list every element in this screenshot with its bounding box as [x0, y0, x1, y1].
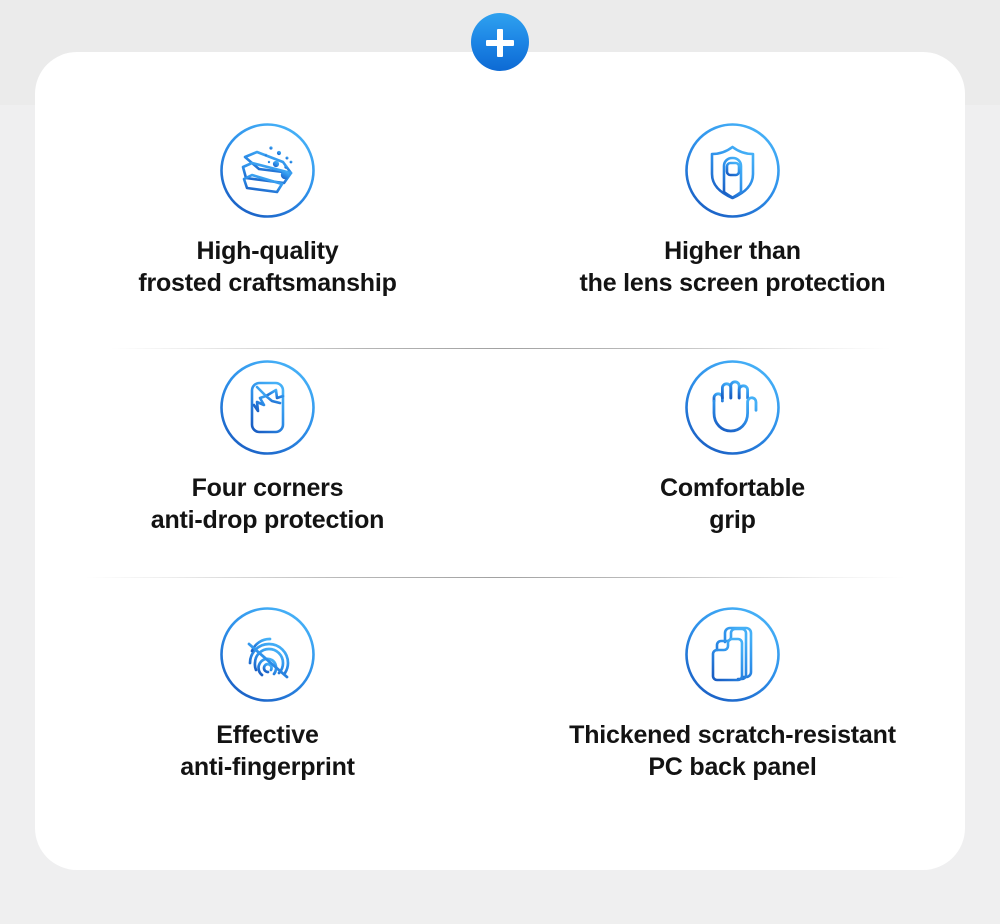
feature-label: Four corners anti-drop protection	[151, 472, 384, 536]
feature-item-grip: Comfortable grip	[500, 359, 965, 536]
feature-label: Thickened scratch-resistant PC back pane…	[569, 719, 896, 783]
open-hand-icon	[684, 359, 781, 456]
feature-item-frosted: High-quality frosted craftsmanship	[35, 122, 500, 299]
feature-label-line1: Thickened scratch-resistant	[569, 719, 896, 751]
feature-row: Effective anti-fingerprint	[35, 606, 965, 783]
feature-grid: High-quality frosted craftsmanship	[35, 52, 965, 870]
feature-item-lens-protection: Higher than the lens screen protection	[500, 122, 965, 299]
shield-lens-icon	[684, 122, 781, 219]
feature-label-line2: frosted craftsmanship	[138, 267, 396, 299]
feature-item-anti-fingerprint: Effective anti-fingerprint	[35, 606, 500, 783]
frosted-layers-icon	[219, 122, 316, 219]
row-divider-2	[85, 577, 905, 578]
infographic-stage: High-quality frosted craftsmanship	[0, 0, 1000, 924]
cracked-phone-icon	[219, 359, 316, 456]
feature-label-line1: Effective	[180, 719, 355, 751]
layered-back-panel-icon	[684, 606, 781, 703]
feature-label: High-quality frosted craftsmanship	[138, 235, 396, 299]
feature-label-line1: High-quality	[138, 235, 396, 267]
feature-item-back-panel: Thickened scratch-resistant PC back pane…	[500, 606, 965, 783]
feature-label-line2: grip	[660, 504, 805, 536]
feature-label-line1: Higher than	[580, 235, 886, 267]
feature-label-line2: anti-fingerprint	[180, 751, 355, 783]
row-divider-1	[110, 348, 890, 349]
feature-label-line1: Four corners	[151, 472, 384, 504]
feature-label: Comfortable grip	[660, 472, 805, 536]
feature-item-anti-drop: Four corners anti-drop protection	[35, 359, 500, 536]
feature-label: Effective anti-fingerprint	[180, 719, 355, 783]
plus-badge[interactable]	[471, 13, 529, 71]
anti-fingerprint-icon	[219, 606, 316, 703]
feature-row: Four corners anti-drop protection	[35, 359, 965, 536]
plus-icon-vertical-bar	[497, 29, 503, 57]
feature-label-line2: PC back panel	[569, 751, 896, 783]
feature-label-line2: anti-drop protection	[151, 504, 384, 536]
feature-label-line2: the lens screen protection	[580, 267, 886, 299]
feature-row: High-quality frosted craftsmanship	[35, 122, 965, 299]
feature-label-line1: Comfortable	[660, 472, 805, 504]
feature-label: Higher than the lens screen protection	[580, 235, 886, 299]
